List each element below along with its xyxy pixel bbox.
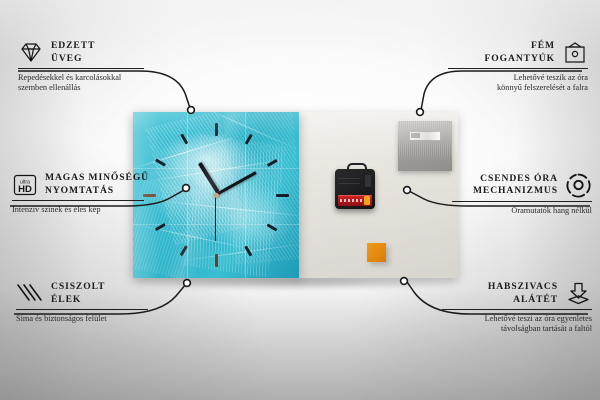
glass-reflection — [133, 112, 299, 278]
callout-title-line: ÉLEK — [51, 294, 105, 307]
callout-subtitle-line: szemben ellenállás — [18, 83, 144, 94]
down-arrow-pad-icon — [565, 282, 592, 306]
callout-title-line: FOGANTYÚK — [448, 53, 555, 66]
foam-spacer-pad — [367, 243, 386, 262]
diamond-icon — [18, 42, 44, 63]
callout-subtitle-line: Lehetővé teszik az óra — [448, 73, 588, 84]
callout-title-line: EDZETT — [51, 40, 95, 53]
ultra-hd-icon: ultra HD — [12, 173, 38, 197]
gear-icon — [565, 172, 592, 198]
callout-divider — [452, 201, 592, 202]
picture-hanger-icon — [562, 42, 588, 64]
callout-subtitle-line: Óramutatók hang nélkül — [452, 206, 592, 217]
battery — [338, 195, 372, 206]
callout-divider — [12, 200, 144, 201]
callout-high-quality-print: ultra HD MAGAS MINŐSÉGŰ NYOMTATÁS Intenz… — [12, 172, 144, 215]
callout-subtitle-line: könnyű felszerelését a falra — [448, 83, 588, 94]
hanger-keyhole-slot — [409, 131, 441, 141]
callout-header: CSENDES ÓRA MECHANIZMUS — [452, 172, 592, 198]
callout-subtitle-line: Intenzív színek és éles kép — [12, 205, 144, 216]
callout-header: ultra HD MAGAS MINŐSÉGŰ NYOMTATÁS — [12, 172, 144, 197]
mechanism-seam — [338, 178, 360, 179]
mechanism-tab — [365, 175, 371, 187]
callout-tempered-glass: EDZETT ÜVEG Repedésekkel és karcolásokka… — [18, 40, 144, 94]
diagonal-lines-icon — [16, 283, 44, 304]
quartz-mechanism — [335, 169, 375, 209]
callout-header: CSISZOLT ÉLEK — [16, 281, 148, 306]
clock-face — [133, 112, 299, 278]
infographic-canvas: EDZETT ÜVEG Repedésekkel és karcolásokka… — [0, 0, 600, 400]
mechanism-seam — [338, 183, 360, 184]
callout-silent-mechanism: CSENDES ÓRA MECHANIZMUS Óramutatók hang … — [452, 172, 592, 216]
callout-title-line: ÜVEG — [51, 53, 95, 66]
callout-foam-pad: HABSZIVACS ALÁTÉT Lehetővé teszi az óra … — [442, 281, 592, 335]
callout-divider — [16, 309, 148, 310]
callout-divider — [18, 68, 144, 69]
callout-title-line: ALÁTÉT — [442, 294, 558, 307]
callout-subtitle-line: Repedésekkel és karcolásokkal — [18, 73, 144, 84]
callout-polished-edges: CSISZOLT ÉLEK Sima és biztonságos felüle… — [16, 281, 148, 324]
callout-title-line: CSISZOLT — [51, 281, 105, 294]
ultra-hd-icon-bottom: HD — [18, 184, 32, 195]
clock-back-panel — [295, 112, 458, 278]
callout-divider — [448, 68, 588, 69]
callout-title-line: HABSZIVACS — [442, 281, 558, 294]
metal-hanger-plate — [398, 121, 452, 171]
callout-subtitle-line: Lehetővé teszi az óra egyenletes — [442, 314, 592, 325]
callout-header: EDZETT ÜVEG — [18, 40, 144, 65]
callout-metal-handles: FÉM FOGANTYÚK Lehetővé teszik az óra kön… — [448, 40, 588, 94]
callout-divider — [442, 309, 592, 310]
callout-title-line: NYOMTATÁS — [45, 185, 149, 198]
callout-title-line: CSENDES ÓRA — [452, 173, 558, 186]
callout-subtitle-line: távolságban tartását a faltól — [442, 324, 592, 335]
callout-header: HABSZIVACS ALÁTÉT — [442, 281, 592, 306]
callout-title-line: MECHANIZMUS — [452, 185, 558, 198]
callout-header: FÉM FOGANTYÚK — [448, 40, 588, 65]
callout-title-line: FÉM — [448, 40, 555, 53]
callout-subtitle-line: Sima és biztonságos felület — [16, 314, 148, 325]
callout-title-line: MAGAS MINŐSÉGŰ — [45, 172, 149, 185]
mechanism-hanging-loop — [347, 163, 367, 175]
product-image — [133, 112, 458, 278]
